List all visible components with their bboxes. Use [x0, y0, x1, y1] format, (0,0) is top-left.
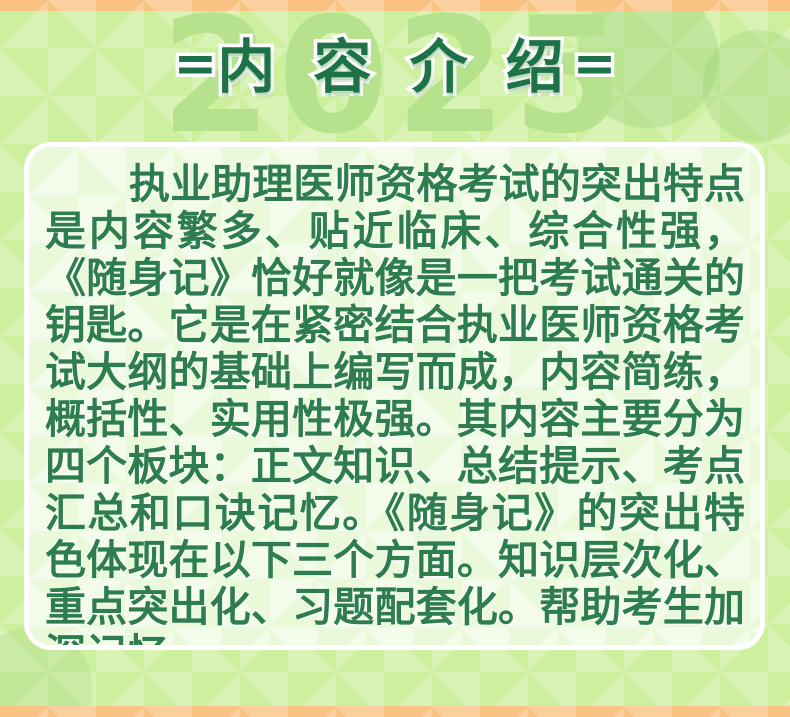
content-card-body-text: 执业助理医师资格考试的突出特点是内容繁多、贴近临床、综合性强，《随身记》恰好就像…: [45, 161, 745, 650]
content-card: 执业助理医师资格考试的突出特点是内容繁多、贴近临床、综合性强，《随身记》恰好就像…: [24, 142, 765, 650]
page-title-text: 内 容 介 绍: [217, 37, 573, 98]
top-orange-strip: [0, 0, 790, 11]
title-left-equals-icon: =: [174, 34, 218, 94]
bottom-orange-strip: [0, 706, 790, 717]
title-right-equals-icon: =: [573, 34, 617, 94]
page-title: =内 容 介 绍=: [0, 34, 790, 98]
content-introduction-page: 2025 =内 容 介 绍= 执业助理医师资格考试的突出特点是内容繁多、贴近临床…: [0, 0, 790, 717]
